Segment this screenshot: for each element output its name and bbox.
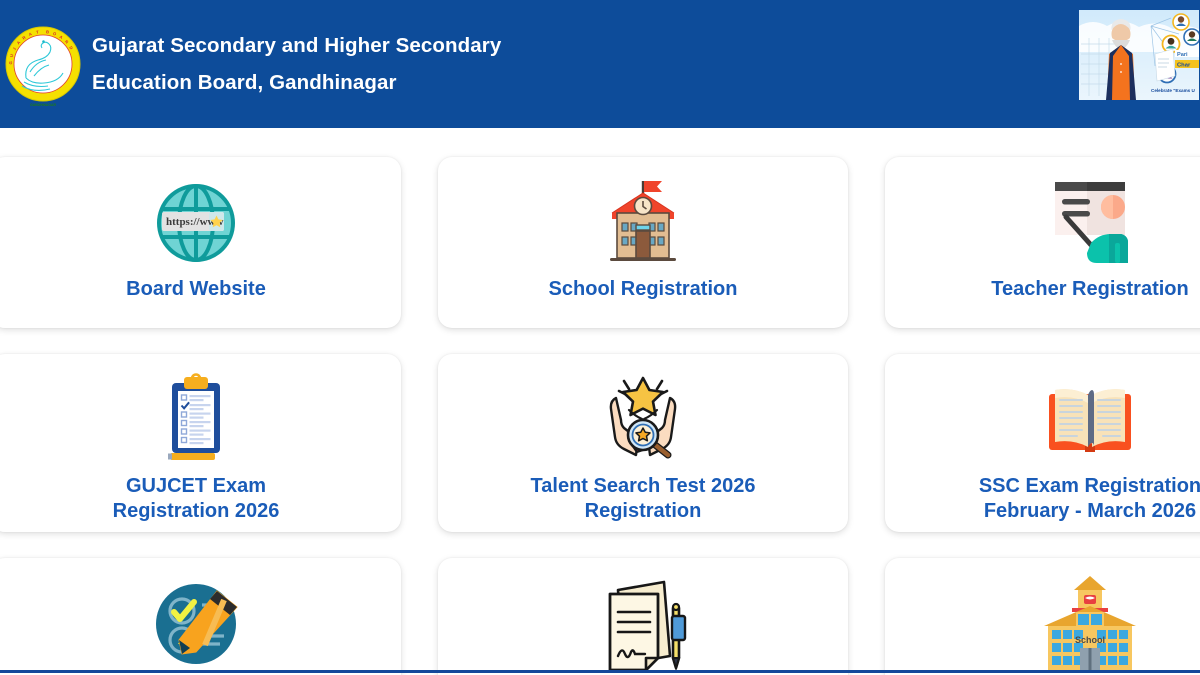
school-building-icon — [588, 173, 698, 273]
card-school-registration[interactable]: School Registration — [438, 157, 848, 328]
banner-caption: Celebrate "Exams U — [1151, 88, 1195, 93]
card-talent-search-test-registration[interactable]: Talent Search Test 2026 Registration — [438, 354, 848, 532]
service-card-grid: https://www Board Website — [0, 157, 1200, 675]
footer-rule — [0, 670, 1200, 673]
open-book-icon — [1035, 370, 1145, 470]
clipboard-checklist-icon — [146, 370, 246, 470]
card-label: SSC Exam Registration February - March 2… — [979, 474, 1200, 524]
gsheb-logo-icon: G U J A R A T B O A R D G A N D — [4, 10, 82, 118]
card-label: GUJCET Exam Registration 2026 — [113, 474, 280, 524]
banner-image: Pari Char Celebrate "Exams U — [1079, 4, 1200, 111]
school-yellow-icon: School — [1030, 574, 1150, 674]
page-title-line-1: Gujarat Secondary and Higher Secondary — [92, 27, 501, 64]
card-school-yellow[interactable]: School — [885, 558, 1200, 675]
school-sign-text: School — [1075, 635, 1105, 645]
hands-star-magnifier-icon — [588, 370, 698, 470]
card-checklist-pencil[interactable] — [0, 558, 401, 675]
card-label: School Registration — [549, 277, 738, 302]
banner-text-1: Pari — [1177, 52, 1188, 58]
card-board-website[interactable]: https://www Board Website — [0, 157, 401, 328]
main-content: https://www Board Website — [0, 128, 1200, 675]
card-gujcet-exam-registration[interactable]: GUJCET Exam Registration 2026 — [0, 354, 401, 532]
globe-website-icon: https://www — [146, 173, 246, 273]
banner-text-2: Char — [1177, 63, 1191, 69]
card-teacher-registration[interactable]: Teacher Registration — [885, 157, 1200, 328]
svg-text:GANDHINAGAR: GANDHINAGAR — [30, 103, 56, 107]
card-document-pen[interactable] — [438, 558, 848, 675]
card-label: Board Website — [126, 277, 266, 302]
teacher-whiteboard-icon — [1035, 173, 1145, 273]
board-logo[interactable]: G U J A R A T B O A R D G A N D — [0, 0, 86, 128]
svg-text:G: G — [8, 61, 13, 64]
card-label: Teacher Registration — [991, 277, 1188, 302]
header-title-block: Gujarat Secondary and Higher Secondary E… — [92, 27, 501, 101]
checklist-pencil-circle-icon — [146, 574, 246, 674]
page-title-line-2: Education Board, Gandhinagar — [92, 64, 501, 101]
card-label: Talent Search Test 2026 Registration — [531, 474, 756, 524]
page-header: G U J A R A T B O A R D G A N D — [0, 0, 1200, 128]
document-pen-icon — [588, 574, 698, 674]
card-ssc-exam-registration[interactable]: SSC Exam Registration February - March 2… — [885, 354, 1200, 532]
pariksha-pe-charcha-banner[interactable]: Pari Char Celebrate "Exams U — [1078, 3, 1200, 111]
